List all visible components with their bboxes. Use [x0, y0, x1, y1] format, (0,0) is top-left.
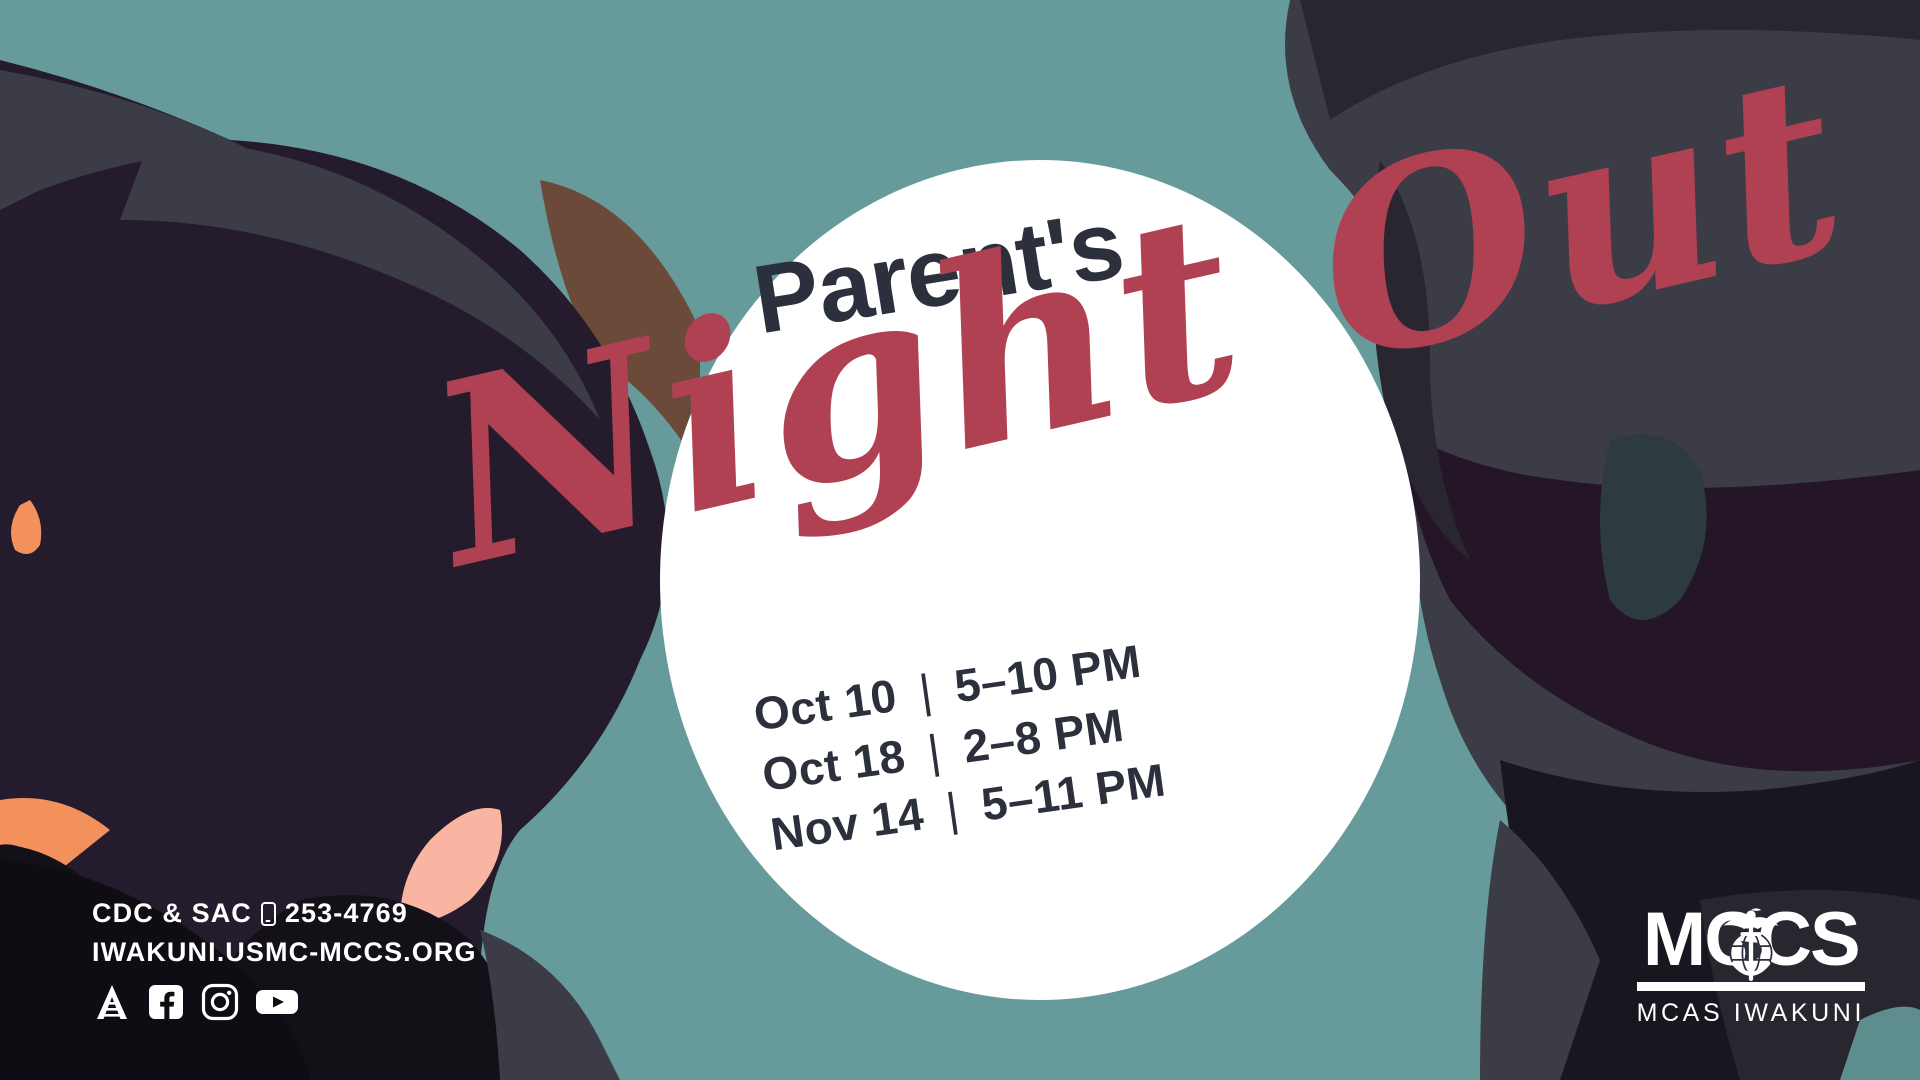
mccs-logo[interactable]: MCCS MCAS IWAKUNI — [1637, 904, 1865, 1028]
contact-block: CDC & SAC 253-4769 IWAKUNI.USMC-MCCS.ORG — [92, 894, 477, 1022]
eagle-globe-anchor-icon — [1708, 899, 1794, 985]
mccs-wordmark: MCCS — [1637, 904, 1865, 977]
schedule-separator: | — [906, 663, 945, 719]
instagram-icon[interactable] — [200, 982, 240, 1022]
schedule-separator: | — [933, 781, 972, 837]
youtube-icon[interactable] — [254, 982, 300, 1022]
poster-canvas: Parent's Night Out Oct 10 | 5–10 PM Oct … — [0, 0, 1920, 1080]
contact-phone-label: CDC & SAC — [92, 894, 252, 932]
schedule-separator: | — [914, 723, 953, 779]
facebook-icon[interactable] — [146, 982, 186, 1022]
mccs-a-icon[interactable] — [92, 982, 132, 1022]
headline-group: Parent's Night Out Oct 10 | 5–10 PM Oct … — [660, 160, 1420, 1000]
contact-phone-number[interactable]: 253-4769 — [285, 894, 408, 932]
mobile-phone-icon — [261, 902, 276, 926]
contact-phone-line: CDC & SAC 253-4769 — [92, 894, 477, 932]
schedule-list: Oct 10 | 5–10 PM Oct 18 | 2–8 PM Nov 14 … — [750, 630, 1169, 866]
contact-website[interactable]: IWAKUNI.USMC-MCCS.ORG — [92, 933, 477, 971]
mccs-subtitle: MCAS IWAKUNI — [1637, 999, 1865, 1028]
social-links — [92, 982, 477, 1022]
